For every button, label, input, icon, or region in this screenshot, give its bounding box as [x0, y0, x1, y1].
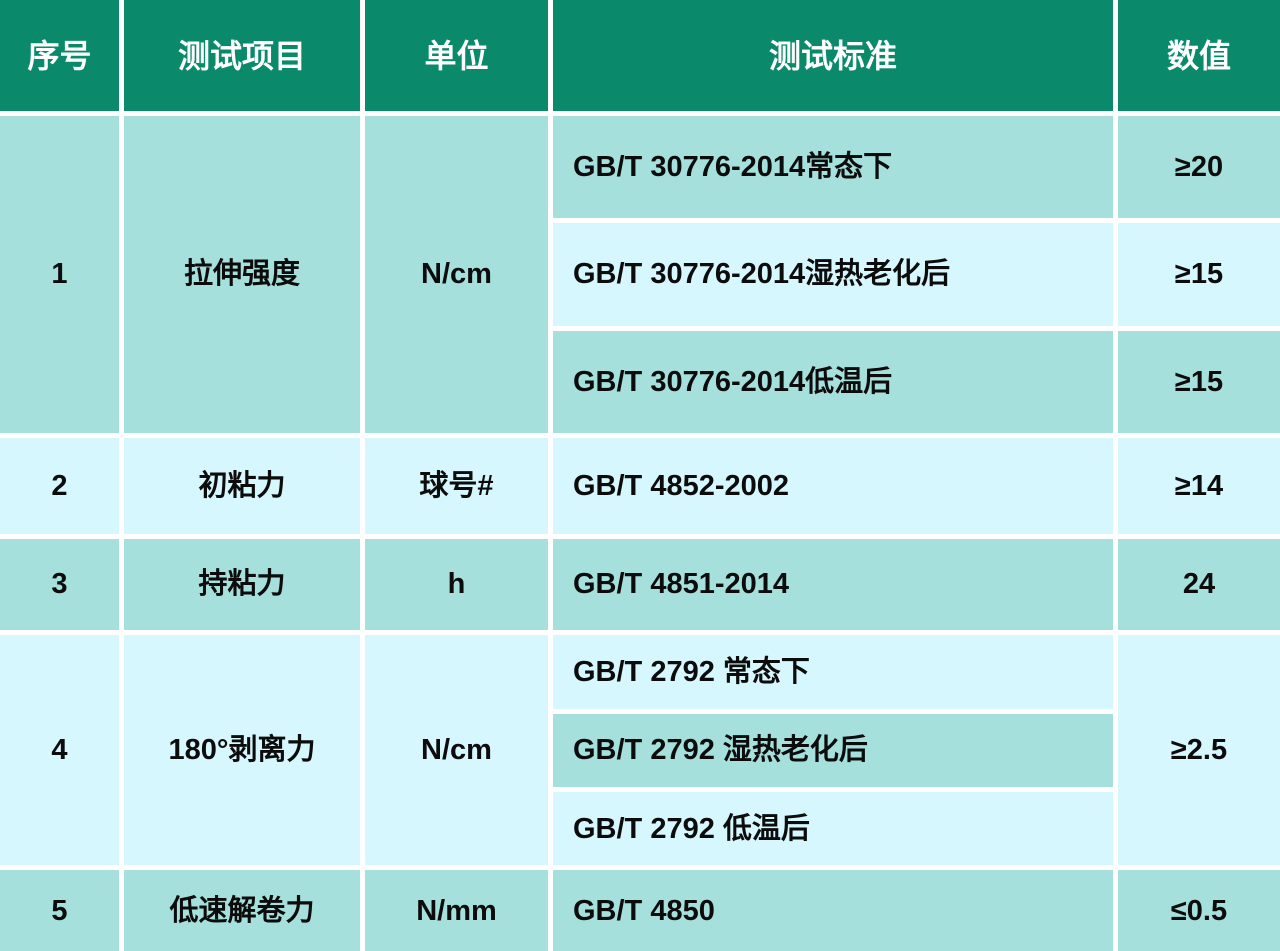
- table-header: 序号 测试项目 单位 测试标准 数值: [0, 0, 1280, 116]
- cell-unit: N/cm: [365, 635, 553, 870]
- cell-item: 初粘力: [124, 438, 365, 539]
- table-row: 3 持粘力 h GB/T 4851-2014 24: [0, 539, 1280, 635]
- cell-unit: N/mm: [365, 870, 553, 951]
- table-row: 5 低速解卷力 N/mm GB/T 4850 ≤0.5: [0, 870, 1280, 951]
- cell-value: ≤0.5: [1118, 870, 1280, 951]
- cell-value: ≥15: [1118, 331, 1280, 438]
- cell-standard: GB/T 4850: [553, 870, 1118, 951]
- cell-unit: 球号#: [365, 438, 553, 539]
- cell-standard: GB/T 30776-2014湿热老化后: [553, 223, 1118, 330]
- cell-standard: GB/T 2792 低温后: [553, 792, 1118, 870]
- header-cell-item: 测试项目: [124, 0, 365, 116]
- table-row: 1 拉伸强度 N/cm GB/T 30776-2014常态下 ≥20: [0, 116, 1280, 223]
- cell-standard: GB/T 2792 常态下: [553, 635, 1118, 713]
- cell-unit: N/cm: [365, 116, 553, 438]
- cell-standard: GB/T 30776-2014常态下: [553, 116, 1118, 223]
- cell-no: 1: [0, 116, 124, 438]
- cell-unit: h: [365, 539, 553, 635]
- cell-standard: GB/T 4851-2014: [553, 539, 1118, 635]
- cell-no: 4: [0, 635, 124, 870]
- cell-standard: GB/T 4852-2002: [553, 438, 1118, 539]
- test-specification-table: 序号 测试项目 单位 测试标准 数值 1 拉伸强度 N/cm GB/T 3077…: [0, 0, 1280, 951]
- cell-value: ≥2.5: [1118, 635, 1280, 870]
- table-row: 4 180°剥离力 N/cm GB/T 2792 常态下 ≥2.5: [0, 635, 1280, 713]
- cell-standard: GB/T 30776-2014低温后: [553, 331, 1118, 438]
- table-body: 1 拉伸强度 N/cm GB/T 30776-2014常态下 ≥20 GB/T …: [0, 116, 1280, 951]
- header-cell-standard: 测试标准: [553, 0, 1118, 116]
- cell-no: 2: [0, 438, 124, 539]
- header-row: 序号 测试项目 单位 测试标准 数值: [0, 0, 1280, 116]
- cell-item: 拉伸强度: [124, 116, 365, 438]
- cell-no: 5: [0, 870, 124, 951]
- cell-no: 3: [0, 539, 124, 635]
- header-cell-value: 数值: [1118, 0, 1280, 116]
- cell-standard: GB/T 2792 湿热老化后: [553, 714, 1118, 792]
- table-row: 2 初粘力 球号# GB/T 4852-2002 ≥14: [0, 438, 1280, 539]
- header-cell-no: 序号: [0, 0, 124, 116]
- cell-value: ≥15: [1118, 223, 1280, 330]
- cell-item: 180°剥离力: [124, 635, 365, 870]
- cell-value: ≥20: [1118, 116, 1280, 223]
- cell-value: 24: [1118, 539, 1280, 635]
- cell-item: 持粘力: [124, 539, 365, 635]
- cell-value: ≥14: [1118, 438, 1280, 539]
- header-cell-unit: 单位: [365, 0, 553, 116]
- cell-item: 低速解卷力: [124, 870, 365, 951]
